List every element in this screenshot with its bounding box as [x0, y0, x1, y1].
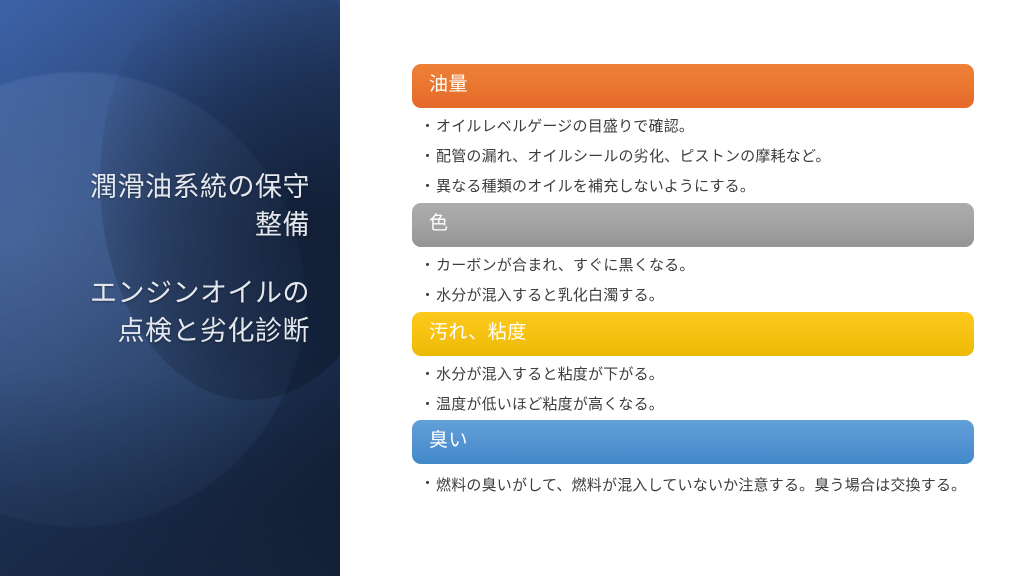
title-panel: 潤滑油系統の保守 整備 エンジンオイルの 点検と劣化診断 [0, 0, 340, 576]
section-label: 色 [429, 214, 449, 236]
list-item: ・ 配管の漏れ、オイルシールの劣化、ピストンの摩耗など。 [412, 142, 974, 172]
slide-title: 潤滑油系統の保守 整備 エンジンオイルの 点検と劣化診断 [44, 168, 310, 350]
section-header-dirt-viscosity[interactable]: 汚れ、粘度 [412, 312, 974, 356]
list-item: ・ 温度が低いほど粘度が高くなる。 [412, 390, 974, 420]
list-item: ・ オイルレベルゲージの目盛りで確認。 [412, 112, 974, 142]
list-item-text: 異なる種類のオイルを補充しないようにする。 [436, 178, 755, 195]
bullet-dot-icon: ・ [420, 390, 435, 420]
decorative-bottom-wash [0, 376, 340, 576]
content-area: 油量 ・ オイルレベルゲージの目盛りで確認。 ・ 配管の漏れ、オイルシールの劣化… [412, 0, 974, 576]
bullet-dot-icon: ・ [420, 251, 435, 281]
list-item-text: 水分が混入すると乳化白濁する。 [436, 287, 664, 304]
bullet-dot-icon: ・ [420, 172, 435, 202]
bullet-list-smell: ・ 燃料の臭いがして、燃料が混入していないか注意する。臭う場合は交換する。 [412, 464, 974, 499]
title-line-2: 整備 [44, 206, 310, 244]
bullet-list-dirt-viscosity: ・ 水分が混入すると粘度が下がる。 ・ 温度が低いほど粘度が高くなる。 [412, 356, 974, 420]
bullet-dot-icon: ・ [420, 112, 435, 142]
list-item-text: カーボンが合まれ、すぐに黒くなる。 [436, 257, 695, 274]
section-label: 油量 [429, 75, 468, 97]
section-header-color[interactable]: 色 [412, 203, 974, 247]
list-item: ・ 燃料の臭いがして、燃料が混入していないか注意する。臭う場合は交換する。 [412, 469, 974, 499]
section-smell: 臭い ・ 燃料の臭いがして、燃料が混入していないか注意する。臭う場合は交換する。 [412, 420, 974, 499]
section-color: 色 ・ カーボンが合まれ、すぐに黒くなる。 ・ 水分が混入すると乳化白濁する。 [412, 203, 974, 311]
title-line-1: 潤滑油系統の保守 [44, 168, 310, 206]
list-item: ・ 異なる種類のオイルを補充しないようにする。 [412, 172, 974, 202]
list-item-text: 水分が混入すると粘度が下がる。 [436, 366, 664, 383]
list-item-text: 温度が低いほど粘度が高くなる。 [436, 396, 664, 413]
bullet-dot-icon: ・ [420, 142, 435, 172]
bullet-dot-icon: ・ [420, 469, 435, 499]
list-item-text: オイルレベルゲージの目盛りで確認。 [436, 118, 694, 135]
list-item: ・ 水分が混入すると粘度が下がる。 [412, 360, 974, 390]
title-line-4: 点検と劣化診断 [44, 312, 310, 350]
bullet-list-color: ・ カーボンが合まれ、すぐに黒くなる。 ・ 水分が混入すると乳化白濁する。 [412, 247, 974, 311]
bullet-list-oil-quantity: ・ オイルレベルゲージの目盛りで確認。 ・ 配管の漏れ、オイルシールの劣化、ピス… [412, 108, 974, 202]
section-header-smell[interactable]: 臭い [412, 420, 974, 464]
section-dirt-viscosity: 汚れ、粘度 ・ 水分が混入すると粘度が下がる。 ・ 温度が低いほど粘度が高くなる… [412, 312, 974, 420]
slide-canvas: 潤滑油系統の保守 整備 エンジンオイルの 点検と劣化診断 油量 ・ オイルレベル… [0, 0, 1024, 576]
section-oil-quantity: 油量 ・ オイルレベルゲージの目盛りで確認。 ・ 配管の漏れ、オイルシールの劣化… [412, 64, 974, 202]
list-item: ・ 水分が混入すると乳化白濁する。 [412, 281, 974, 311]
title-spacer [44, 244, 310, 274]
section-label: 臭い [429, 431, 468, 453]
list-item-text: 燃料の臭いがして、燃料が混入していないか注意する。臭う場合は交換する。 [436, 477, 966, 494]
bullet-dot-icon: ・ [420, 360, 435, 390]
list-item: ・ カーボンが合まれ、すぐに黒くなる。 [412, 251, 974, 281]
list-item-text: 配管の漏れ、オイルシールの劣化、ピストンの摩耗など。 [436, 148, 831, 165]
section-label: 汚れ、粘度 [429, 323, 527, 345]
bullet-dot-icon: ・ [420, 281, 435, 311]
title-line-3: エンジンオイルの [44, 274, 310, 312]
section-header-oil-quantity[interactable]: 油量 [412, 64, 974, 108]
